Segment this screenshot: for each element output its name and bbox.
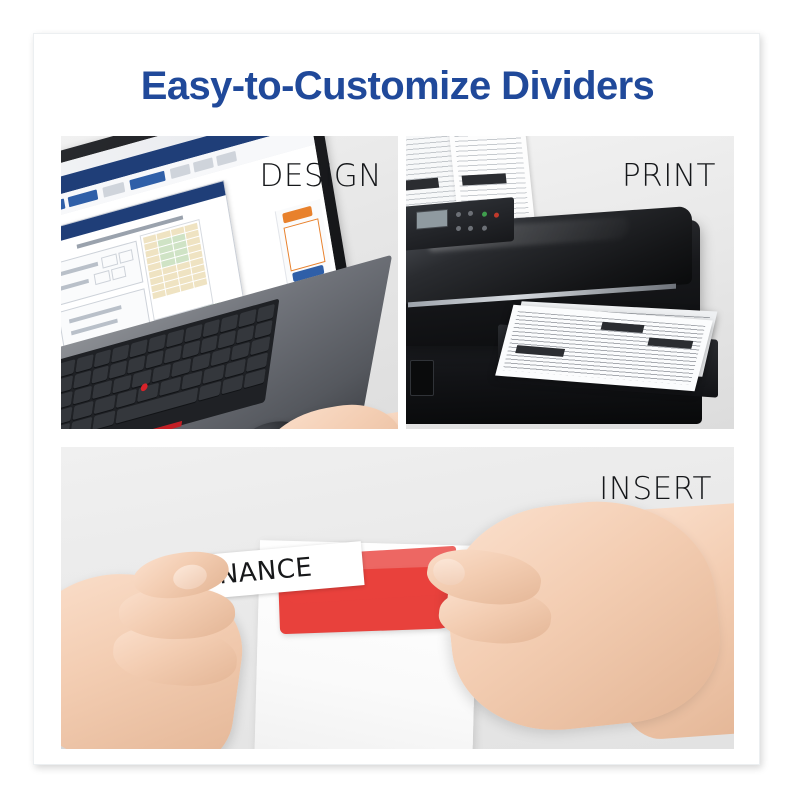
ribbon-chip: [102, 182, 125, 198]
image-card: Easy-to-Customize Dividers: [33, 33, 760, 765]
ribbon-chip: [193, 157, 214, 172]
stop-button-icon[interactable]: [494, 212, 499, 217]
ribbon-chip: [216, 151, 237, 166]
panel-print: PRINT: [406, 136, 734, 429]
control-button[interactable]: [468, 211, 473, 216]
power-button-icon[interactable]: [482, 211, 487, 216]
template-grid-preview: [140, 219, 214, 321]
side-panel-preview-card: [284, 218, 326, 271]
memory-card-slot[interactable]: [410, 360, 434, 396]
panel-design: DESIGN: [61, 136, 398, 429]
panel-label-insert: INSERT: [599, 471, 712, 507]
panel-insert: FINANCE INSERT: [61, 447, 734, 749]
printer-lcd-display: [416, 209, 448, 230]
control-button[interactable]: [482, 225, 487, 230]
key: [61, 423, 70, 429]
panel-label-design: DESIGN: [260, 158, 383, 194]
page-title: Easy-to-Customize Dividers: [34, 64, 761, 109]
control-button[interactable]: [468, 226, 473, 231]
ribbon-chip: [170, 164, 191, 179]
control-button[interactable]: [456, 212, 461, 217]
panel-label-print: PRINT: [622, 158, 716, 194]
control-button[interactable]: [456, 226, 461, 231]
product-marketing-image: Easy-to-Customize Dividers: [0, 0, 800, 800]
